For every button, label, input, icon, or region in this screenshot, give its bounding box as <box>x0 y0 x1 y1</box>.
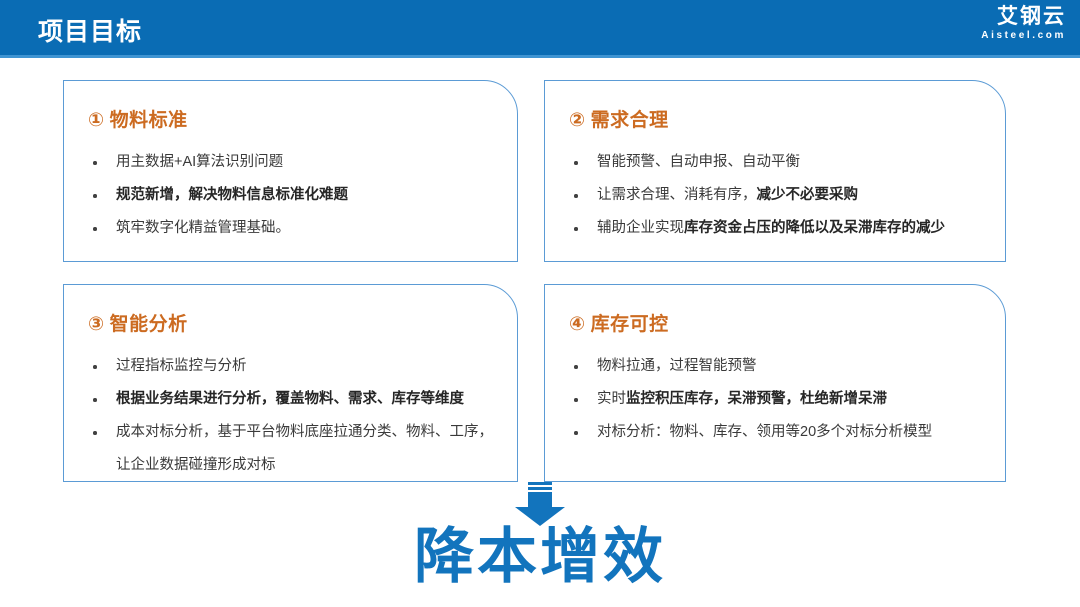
list-item: 过程指标监控与分析 <box>90 350 495 383</box>
goal-card-1-title: ①物料标准 <box>88 105 517 132</box>
list-item: 用主数据+AI算法识别问题 <box>90 146 495 179</box>
brand-logo: 艾钢云 Aisteel.com <box>981 6 1066 41</box>
goal-card-3: ③智能分析 过程指标监控与分析 根据业务结果进行分析，覆盖物料、需求、库存等维度… <box>63 284 518 482</box>
list-item: 辅助企业实现库存资金占压的降低以及呆滞库存的减少 <box>571 212 983 245</box>
goal-card-2-title: ②需求合理 <box>569 105 1005 132</box>
list-item: 根据业务结果进行分析，覆盖物料、需求、库存等维度 <box>90 383 495 416</box>
goal-card-4: ④库存可控 物料拉通，过程智能预警 实时监控积压库存，呆滞预警，杜绝新增呆滞 对… <box>544 284 1006 482</box>
goal-card-2-bullets: 智能预警、自动申报、自动平衡 让需求合理、消耗有序，减少不必要采购 辅助企业实现… <box>545 146 1005 245</box>
goal-card-3-number: ③ <box>88 314 105 335</box>
goal-card-3-title: ③智能分析 <box>88 309 517 336</box>
goal-card-3-title-text: 智能分析 <box>110 314 188 335</box>
header-underline <box>0 55 1080 58</box>
list-item: 智能预警、自动申报、自动平衡 <box>571 146 983 179</box>
brand-logo-name-en: Aisteel.com <box>981 31 1066 41</box>
goal-card-3-bullets: 过程指标监控与分析 根据业务结果进行分析，覆盖物料、需求、库存等维度 成本对标分… <box>64 350 517 482</box>
list-item: 筑牢数字化精益管理基础。 <box>90 212 495 245</box>
goal-card-1-number: ① <box>88 110 105 131</box>
list-item: 对标分析：物料、库存、领用等20多个对标分析模型 <box>571 416 983 449</box>
list-item: 实时监控积压库存，呆滞预警，杜绝新增呆滞 <box>571 383 983 416</box>
arrow-line-top <box>528 482 552 485</box>
goal-card-2-number: ② <box>569 110 586 131</box>
list-item: 物料拉通，过程智能预警 <box>571 350 983 383</box>
brand-logo-name-cn: 艾钢云 <box>981 6 1066 27</box>
list-item: 成本对标分析，基于平台物料底座拉通分类、物料、工序，让企业数据碰撞形成对标 <box>90 416 495 482</box>
goal-card-4-title: ④库存可控 <box>569 309 1005 336</box>
list-item: 让需求合理、消耗有序，减少不必要采购 <box>571 179 983 212</box>
arrow-down-icon <box>511 482 569 526</box>
page-title: 项目目标 <box>38 12 142 48</box>
goal-card-1-title-text: 物料标准 <box>110 110 188 131</box>
goal-card-1-bullets: 用主数据+AI算法识别问题 规范新增，解决物料信息标准化难题 筑牢数字化精益管理… <box>64 146 517 245</box>
arrow-line-second <box>528 487 552 490</box>
slogan-text: 降本增效 <box>0 521 1080 593</box>
page-header: 项目目标 艾钢云 Aisteel.com <box>0 0 1080 55</box>
goal-card-4-title-text: 库存可控 <box>591 314 669 335</box>
goal-card-2-title-text: 需求合理 <box>591 110 669 131</box>
goal-card-4-bullets: 物料拉通，过程智能预警 实时监控积压库存，呆滞预警，杜绝新增呆滞 对标分析：物料… <box>545 350 1005 449</box>
arrow-stem <box>528 492 552 508</box>
goal-card-4-number: ④ <box>569 314 586 335</box>
list-item: 规范新增，解决物料信息标准化难题 <box>90 179 495 212</box>
goal-card-1: ①物料标准 用主数据+AI算法识别问题 规范新增，解决物料信息标准化难题 筑牢数… <box>63 80 518 262</box>
goal-card-2: ②需求合理 智能预警、自动申报、自动平衡 让需求合理、消耗有序，减少不必要采购 … <box>544 80 1006 262</box>
